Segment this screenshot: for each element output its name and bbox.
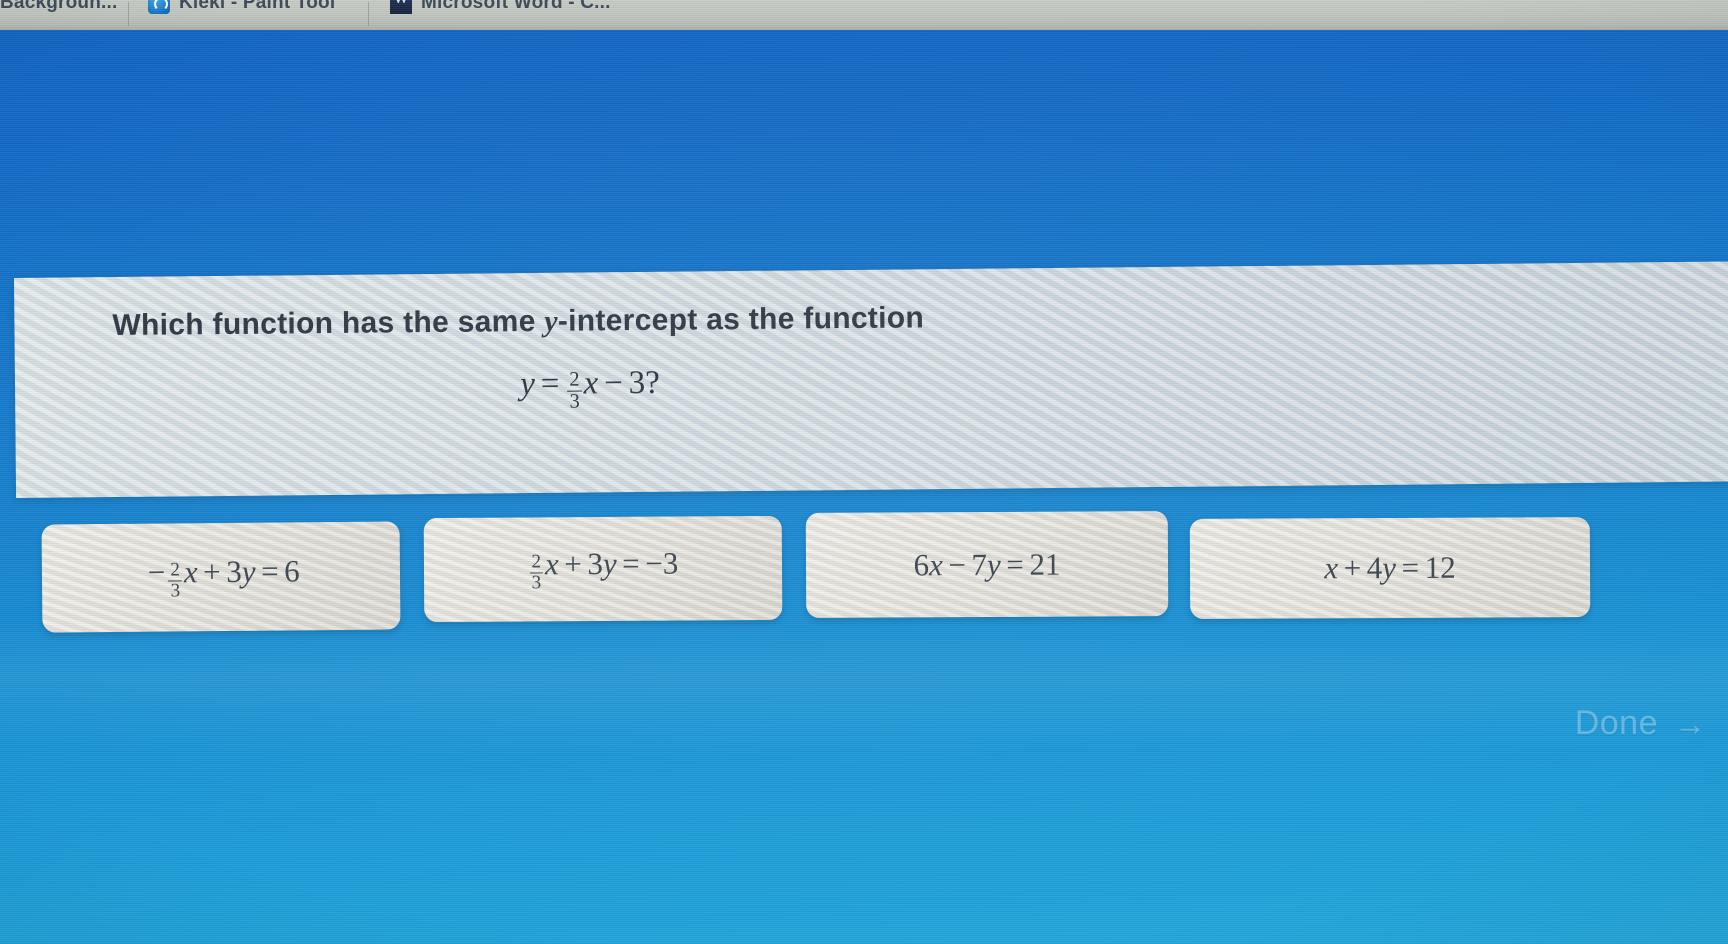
taskbar-item-word[interactable]: Microsoft Word - C... — [390, 0, 611, 18]
taskbar-item-label: Microsoft Word - C... — [421, 0, 611, 14]
choice-d-rhs: 12 — [1425, 550, 1456, 585]
choice-a-equals: = — [255, 553, 284, 588]
fraction-numerator: 2 — [168, 560, 182, 580]
question-prompt: Which function has the same y-intercept … — [112, 293, 1728, 343]
choice-b-operator: + — [559, 546, 588, 581]
choice-d-operator: + — [1338, 550, 1367, 585]
answer-choice-equation: 23x+3y=−3 — [528, 545, 679, 592]
fraction-denominator: 3 — [567, 391, 581, 413]
taskbar-item-background[interactable]: Backgroun... — [0, 0, 117, 18]
question-panel: Which function has the same y-intercept … — [14, 261, 1728, 498]
choice-a-operator: + — [197, 554, 226, 589]
answer-choice-c[interactable]: 6x−7y=21 — [806, 511, 1169, 618]
answer-choice-a[interactable]: −23x+3y=6 — [42, 521, 401, 632]
choice-a-var2: y — [242, 553, 256, 588]
choice-c-rhs: 21 — [1029, 546, 1060, 581]
kleki-icon — [148, 0, 170, 14]
windows-taskbar: Backgroun... Kleki - Paint Tool Microsof… — [0, 0, 1728, 30]
done-button-label: Done — [1575, 704, 1658, 743]
question-formula: y=23x−3? — [15, 354, 1728, 419]
question-content: Which function has the same y-intercept … — [14, 261, 1728, 418]
choice-a-var1: x — [184, 554, 198, 589]
choice-c-operator: − — [943, 547, 972, 582]
choice-b-var2: y — [603, 546, 617, 581]
choice-d-var2: y — [1382, 550, 1396, 585]
choice-c-coef1: 6 — [914, 547, 930, 582]
fraction-numerator: 2 — [529, 552, 543, 572]
done-button[interactable]: Done → — [1551, 698, 1720, 749]
taskbar-item-label: Kleki - Paint Tool — [179, 0, 335, 14]
formula-equals: = — [535, 365, 566, 401]
answer-choice-equation: −23x+3y=6 — [142, 553, 300, 601]
choice-b-fraction: 23 — [529, 552, 543, 592]
choice-c-coef2: 7 — [971, 547, 987, 582]
choice-b-var1: x — [545, 546, 559, 581]
choice-a-fraction: 23 — [168, 560, 182, 600]
formula-lhs: y — [520, 366, 535, 402]
question-prompt-part1: Which function has the same — [112, 305, 544, 342]
formula-fraction: 23 — [567, 370, 582, 413]
taskbar-item-label: Backgroun... — [0, 0, 117, 14]
answer-choice-list: −23x+3y=6 23x+3y=−3 6x−7y=21 x+4y=12 — [0, 505, 1728, 640]
formula-constant: 3 — [629, 364, 646, 400]
taskbar-divider — [128, 2, 129, 26]
choice-d-coef2: 4 — [1367, 550, 1383, 585]
choice-b-equals: = — [617, 545, 646, 580]
fraction-denominator: 3 — [530, 572, 544, 593]
screen-photo: Backgroun... Kleki - Paint Tool Microsof… — [0, 0, 1728, 944]
answer-choice-equation: 6x−7y=21 — [914, 546, 1061, 583]
formula-variable: x — [583, 365, 598, 401]
fraction-denominator: 3 — [168, 580, 182, 601]
choice-b-coef2: 3 — [587, 546, 603, 581]
choice-d-var1: x — [1324, 550, 1338, 585]
choice-c-var1: x — [929, 547, 943, 582]
answer-choice-equation: x+4y=12 — [1324, 550, 1455, 587]
choice-a-coef2: 3 — [226, 554, 242, 589]
choice-a-sign: − — [142, 554, 167, 589]
taskbar-item-kleki[interactable]: Kleki - Paint Tool — [148, 0, 335, 18]
choice-d-equals: = — [1396, 550, 1425, 585]
word-icon — [390, 0, 412, 14]
choice-c-equals: = — [1001, 546, 1030, 581]
choice-a-rhs: 6 — [284, 553, 300, 588]
answer-choice-b[interactable]: 23x+3y=−3 — [424, 516, 783, 622]
choice-c-var2: y — [987, 546, 1001, 581]
formula-question-mark: ? — [645, 364, 660, 400]
answer-choice-d[interactable]: x+4y=12 — [1190, 517, 1590, 619]
choice-b-rhs: −3 — [645, 545, 678, 580]
question-prompt-variable: y — [544, 305, 558, 338]
taskbar-divider — [368, 2, 369, 26]
fraction-numerator: 2 — [567, 370, 581, 391]
formula-minus: − — [598, 365, 629, 401]
question-prompt-part2: -intercept as the function — [558, 301, 924, 338]
arrow-right-icon: → — [1674, 708, 1706, 740]
